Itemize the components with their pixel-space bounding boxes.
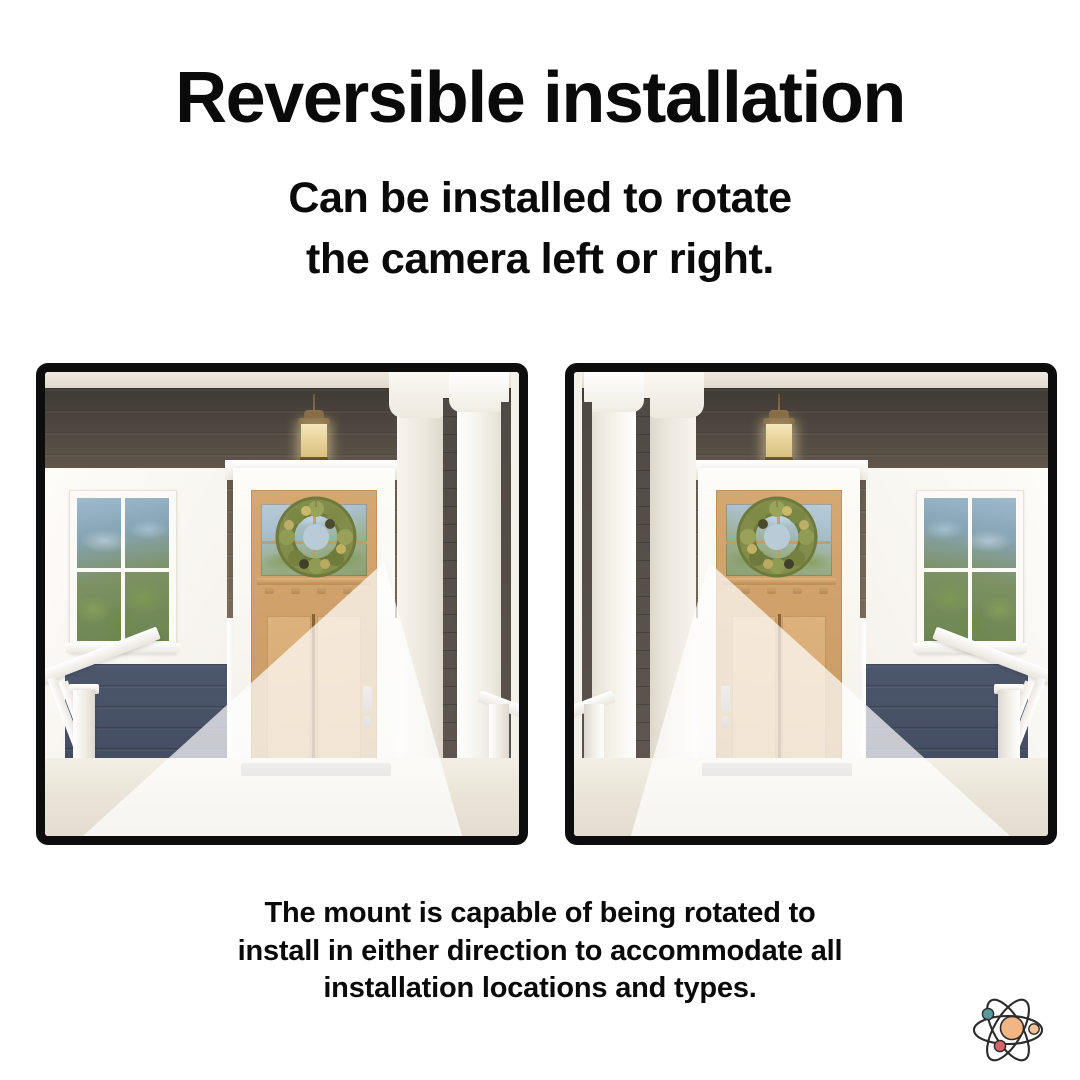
porch-shadow-gap [636, 398, 650, 802]
porch-column-inner [650, 372, 696, 802]
atom-electron-teal [982, 1008, 993, 1019]
subtitle-line-2: the camera left or right. [0, 229, 1080, 290]
infographic-page: Reversible installation Can be installed… [0, 0, 1080, 1080]
lantern-glass-shade [766, 424, 792, 458]
porch-column-inner [397, 372, 443, 802]
door-dentil-block [291, 585, 300, 594]
lantern-glass-shade [301, 424, 327, 458]
door-dentil-block [819, 585, 828, 594]
atom-electron-red [994, 1040, 1005, 1051]
rotate-right-example-panel [565, 363, 1057, 845]
subtitle-line-1: Can be installed to rotate [0, 168, 1080, 229]
door-handle-knob [364, 716, 371, 728]
porch-photo-left [45, 372, 519, 836]
door-wreath [273, 494, 359, 580]
door-dentil-block [265, 585, 274, 594]
footer-caption: The mount is capable of being rotated to… [0, 895, 1080, 1008]
porch-lantern-light [762, 394, 796, 470]
page-subtitle: Can be installed to rotate the camera le… [0, 168, 1080, 290]
window-mullion-horizontal [77, 568, 169, 572]
doormat [702, 763, 852, 776]
wreath-foliage [279, 501, 353, 574]
door-dentil-block [343, 585, 352, 594]
porch-column-bracket [584, 372, 644, 412]
porch-column-bracket [449, 372, 509, 412]
atom-nucleus [1001, 1017, 1024, 1040]
porch-window [916, 490, 1024, 654]
porch-window [69, 490, 177, 654]
porch-column-bracket [642, 372, 704, 418]
porch-photo-right [574, 372, 1048, 836]
door-handle-plate [363, 686, 372, 712]
porch-shadow-gap [443, 398, 457, 802]
atom-electron-peach [1029, 1024, 1039, 1034]
porch-lantern-light [297, 394, 331, 470]
porch-scene [45, 372, 519, 836]
caption-line-2: install in either direction to accommoda… [0, 933, 1080, 971]
door-dentil-block [741, 585, 750, 594]
porch-scene [574, 372, 1048, 836]
window-mullion-horizontal [924, 568, 1016, 572]
caption-line-1: The mount is capable of being rotated to [0, 895, 1080, 933]
atom-logo [962, 988, 1054, 1072]
window-glass [77, 498, 169, 641]
page-title: Reversible installation [0, 62, 1080, 134]
door-wreath [734, 494, 820, 580]
window-glass [924, 498, 1016, 641]
door-dentil-block [793, 585, 802, 594]
door-handle-knob [722, 716, 729, 728]
porch-column-bracket [389, 372, 451, 418]
doormat [241, 763, 391, 776]
caption-line-3: installation locations and types. [0, 970, 1080, 1008]
door-dentil-block [767, 585, 776, 594]
door-handle-plate [721, 686, 730, 712]
rotate-left-example-panel [36, 363, 528, 845]
door-dentil-block [317, 585, 326, 594]
wreath-foliage [740, 501, 814, 574]
